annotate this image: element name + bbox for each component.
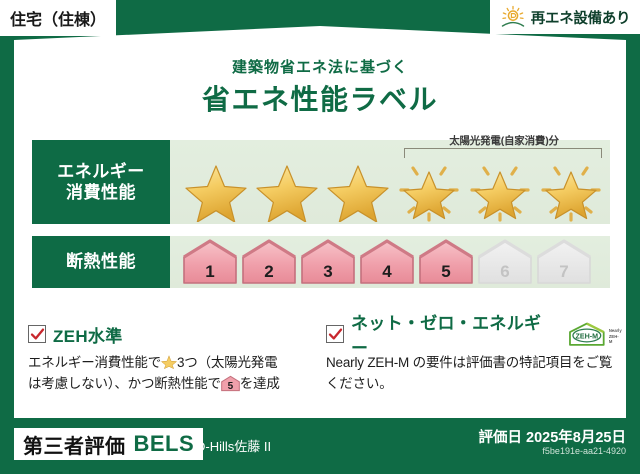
zeh-criteria-block: ZEH水準 エネルギー消費性能で3つ（太陽光発電は考慮しない）、かつ断熱性能で5… (28, 322, 324, 395)
svg-text:ZEH-M: ZEH-M (576, 332, 599, 340)
energy-label-line1: エネルギー (57, 161, 145, 182)
zeh-criteria-header: ZEH水準 (28, 322, 324, 346)
renewable-energy-badge: 再エネ設備あり (490, 0, 640, 34)
zeh-m-logo-sublabel: Nearly ZEH-M (609, 328, 622, 347)
insulation-level-1-number: 1 (182, 263, 238, 280)
energy-label-line2: 消費性能 (66, 182, 136, 203)
zeh-star-count: 3つ（太陽光発電 (177, 355, 277, 370)
star-5-solar (464, 158, 535, 222)
evaluation-id: f5be191e-aa21-4920 (542, 446, 626, 456)
inline-star-icon (161, 354, 177, 370)
property-name: D-Hills佐藤 II (196, 436, 271, 455)
bels-logo: BELS (134, 431, 195, 457)
solar-bracket (404, 148, 602, 158)
bels-chip: 第三者評価 BELS (14, 428, 203, 460)
star-6-solar (535, 158, 606, 222)
building-type-label: 住宅（住棟） (10, 6, 106, 30)
star-4-solar (393, 158, 464, 222)
evaluation-date: 評価日 2025年8月25日 (479, 426, 626, 447)
zeh-text-b: は考慮しない）、かつ断熱性能で (28, 376, 221, 391)
insulation-level-7: 7 (536, 239, 592, 285)
net-zero-checkbox[interactable] (326, 325, 344, 343)
insulation-level-4: 4 (359, 239, 415, 285)
energy-performance-label-box: エネルギー 消費性能 (32, 140, 170, 224)
zeh-criteria-text: エネルギー消費性能で3つ（太陽光発電は考慮しない）、かつ断熱性能で5を達成 (28, 353, 324, 395)
net-zero-criteria-title: ネット・ゼロ・エネルギー (351, 309, 556, 359)
zeh-text-c: を達成 (240, 376, 280, 391)
evaluation-date-value: 2025年8月25日 (526, 430, 626, 446)
insulation-level-3-number: 3 (300, 263, 356, 280)
insulation-level-scale: 1 2 3 (182, 239, 592, 285)
insulation-level-1: 1 (182, 239, 238, 285)
star-2 (251, 158, 322, 222)
zeh-checkbox[interactable] (28, 325, 46, 343)
zeh-m-logo: ZEH-M Nearly ZEH-M (567, 321, 622, 347)
insulation-performance-label-box: 断熱性能 (32, 236, 170, 288)
insulation-level-6: 6 (477, 239, 533, 285)
building-type-badge: 住宅（住棟） (0, 0, 116, 36)
insulation-label: 断熱性能 (66, 251, 136, 272)
net-zero-criteria-block: ネット・ゼロ・エネルギー ZEH-M Nearly ZEH-M Nearly Z… (326, 322, 622, 395)
page-title: 省エネ性能ラベル (0, 78, 640, 118)
zeh-m-sub-line2: ZEH-M (609, 334, 619, 344)
star-1 (180, 158, 251, 222)
insulation-level-6-number: 6 (477, 263, 533, 280)
insulation-performance-row: 断熱性能 (32, 236, 610, 288)
insulation-level-3: 3 (300, 239, 356, 285)
zeh-criteria-title: ZEH水準 (53, 322, 123, 347)
solar-note-label: 太陽光発電(自家消費)分 (404, 133, 604, 148)
inline-house-number: 5 (221, 382, 240, 392)
star-3 (322, 158, 393, 222)
insulation-level-2-number: 2 (241, 263, 297, 280)
zeh-text-a: エネルギー消費性能で (28, 355, 161, 370)
third-party-label: 第三者評価 (23, 430, 126, 459)
inline-house-icon: 5 (221, 375, 240, 392)
energy-star-area: 太陽光発電(自家消費)分 (170, 140, 610, 224)
renewable-energy-label: 再エネ設備あり (531, 7, 630, 28)
net-zero-criteria-text: Nearly ZEH-M の要件は評価書の特記項目をご覧ください。 (326, 353, 622, 395)
evaluation-date-label: 評価日 (479, 430, 523, 446)
sun-renewable-icon (500, 5, 526, 29)
insulation-level-4-number: 4 (359, 263, 415, 280)
title-subtitle: 建築物省エネ法に基づく (0, 56, 640, 77)
energy-performance-label: 住宅（住棟） 再エネ設備あり 建築物省エネ法に基づく (0, 0, 640, 474)
footer-bar: 第三者評価 BELS D-Hills佐藤 II 評価日 2025年8月25日 f… (0, 418, 640, 474)
zeh-m-sub-line1: Nearly (609, 328, 622, 333)
insulation-level-7-number: 7 (536, 263, 592, 280)
insulation-level-2: 2 (241, 239, 297, 285)
insulation-level-area: 1 2 3 (170, 236, 610, 288)
insulation-level-5: 5 (418, 239, 474, 285)
net-zero-criteria-header: ネット・ゼロ・エネルギー ZEH-M Nearly ZEH-M (326, 322, 622, 346)
energy-performance-row: エネルギー 消費性能 太陽光発電(自家消費)分 (32, 140, 610, 224)
insulation-level-5-number: 5 (418, 263, 474, 280)
star-rating (180, 158, 606, 222)
